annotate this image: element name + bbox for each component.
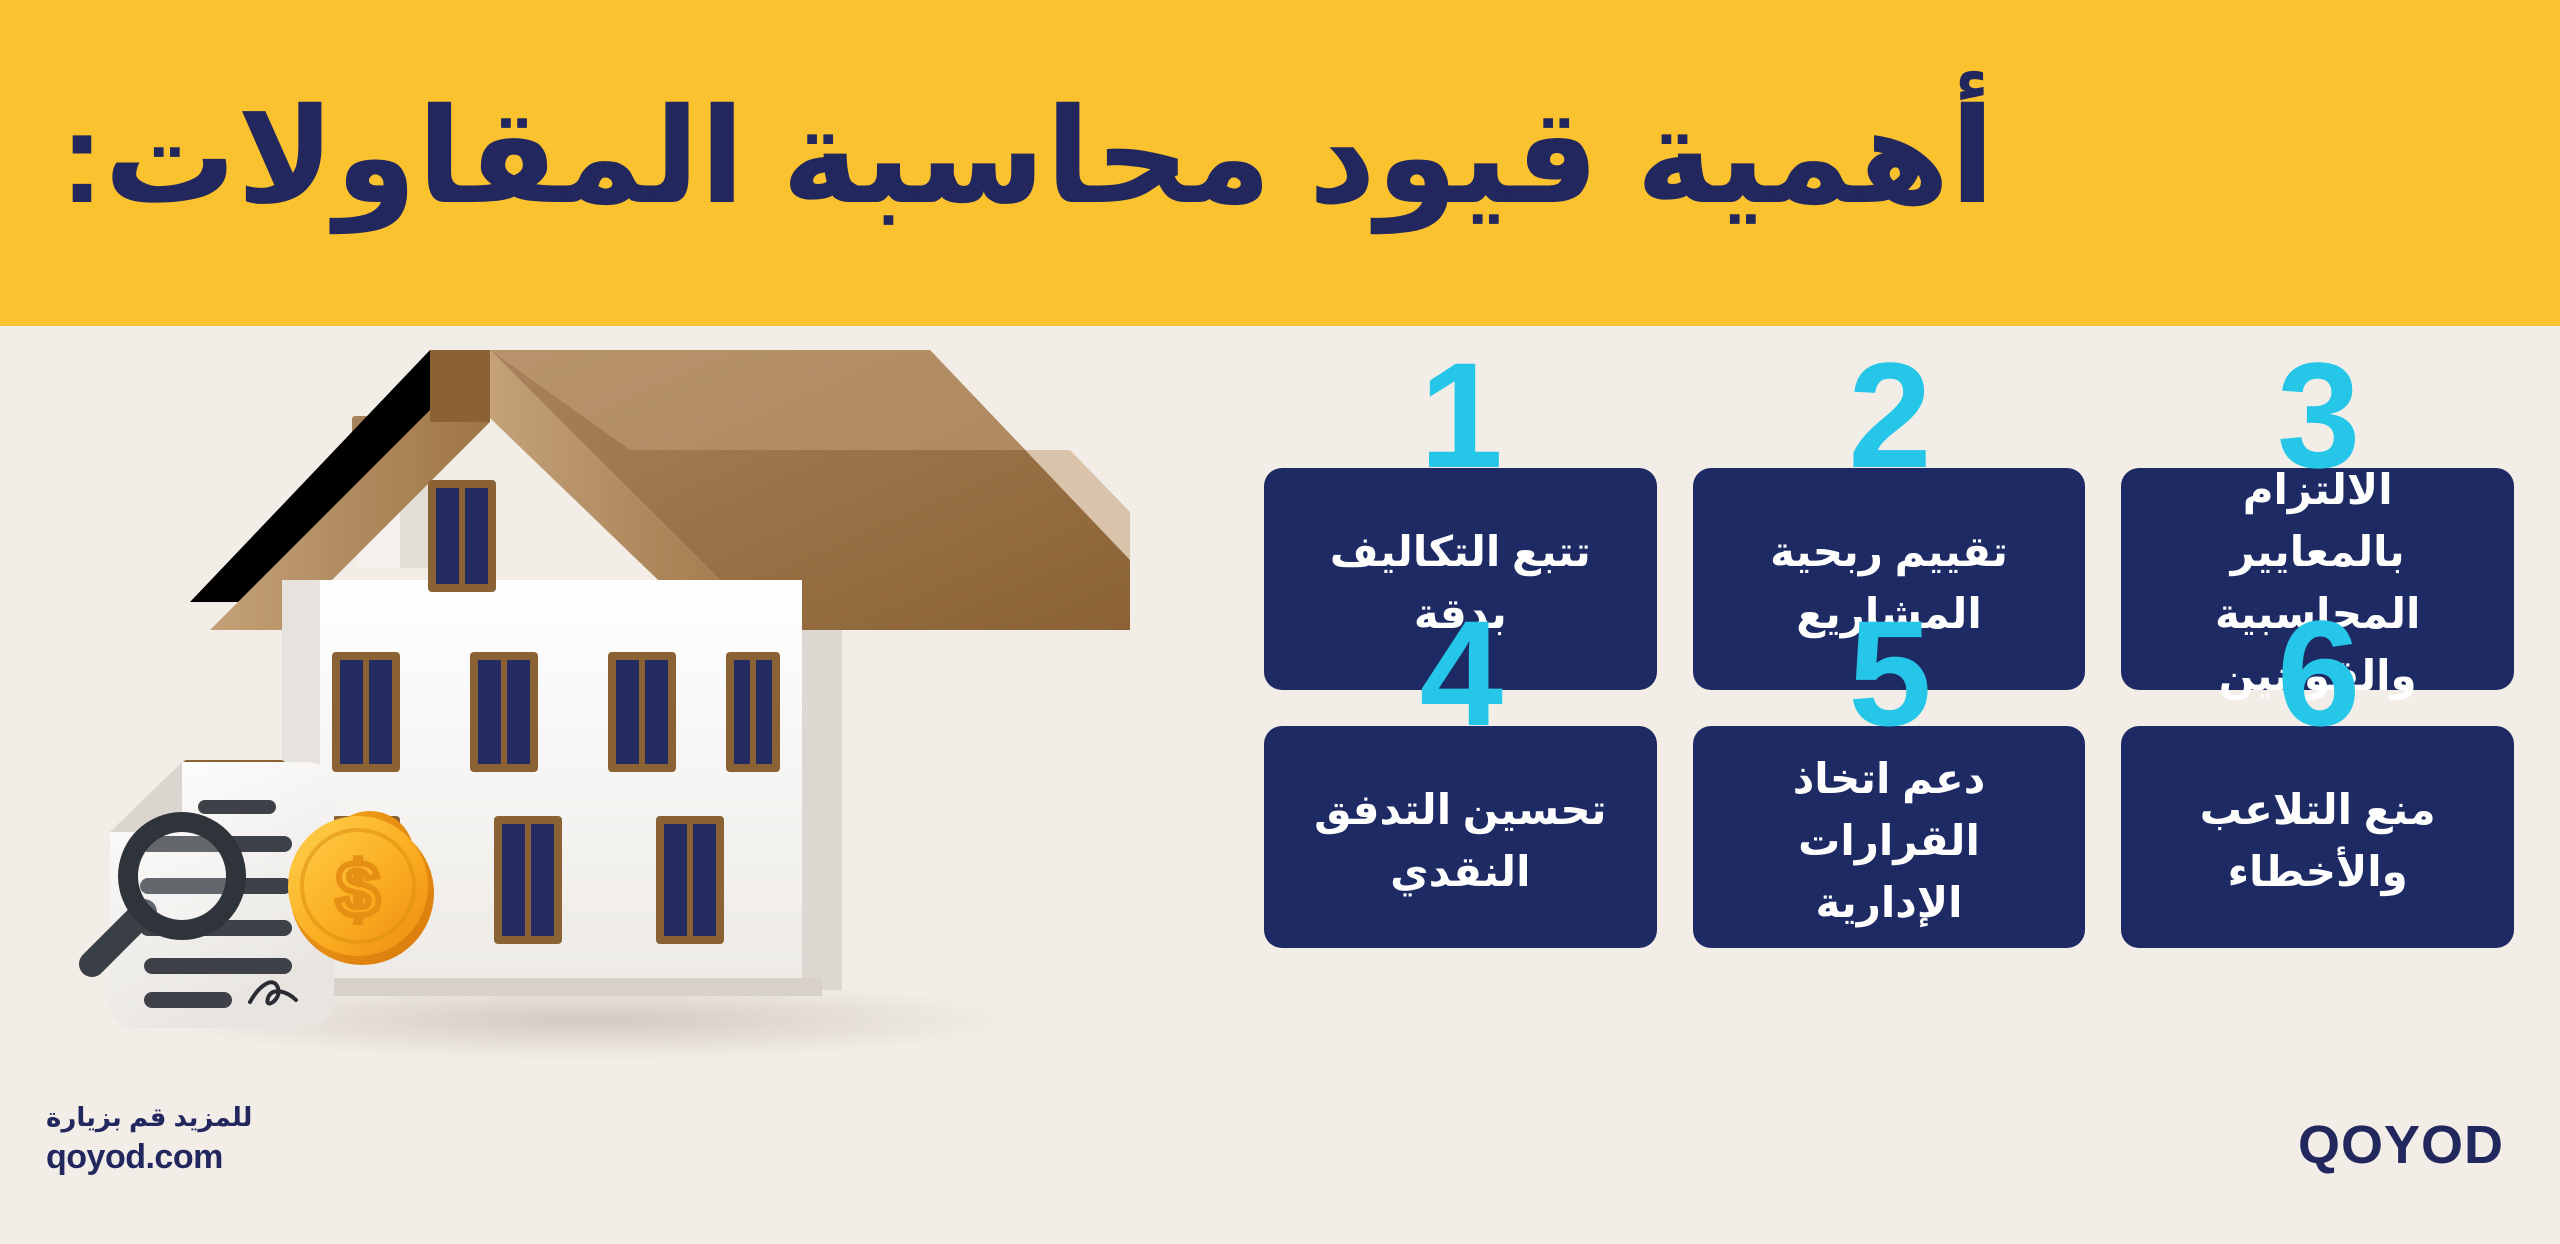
- header-banner: أهمية قيود محاسبة المقاولات:: [0, 0, 2560, 326]
- benefit-card-6[interactable]: 6 منع التلاعب والأخطاء: [2121, 726, 2514, 948]
- house-illustration: $: [70, 330, 1130, 1070]
- benefits-grid: 3 الالتزام بالمعايير المحاسبية والقوانين…: [1264, 468, 2514, 948]
- svg-text:$: $: [336, 845, 379, 933]
- infographic-canvas: أهمية قيود محاسبة المقاولات:: [0, 0, 2560, 1244]
- benefit-card-5[interactable]: 5 دعم اتخاذ القرارات الإدارية: [1693, 726, 2086, 948]
- doc-line: [144, 958, 292, 974]
- benefit-label-2: تقييم ربحية المشاريع: [1723, 521, 2056, 645]
- benefit-label-5: دعم اتخاذ القرارات الإدارية: [1723, 748, 2056, 934]
- benefit-card-3[interactable]: 3 الالتزام بالمعايير المحاسبية والقوانين: [2121, 468, 2514, 690]
- footer-cta: للمزيد قم بزيارة qoyod.com: [46, 1100, 252, 1178]
- benefit-label-6: منع التلاعب والأخطاء: [2151, 779, 2484, 903]
- qoyod-logo: QOYOD: [2298, 1118, 2504, 1172]
- qoyod-logo-text: QOYOD: [2298, 1118, 2504, 1172]
- benefit-card-4[interactable]: 4 تحسين التدفق النقدي: [1264, 726, 1657, 948]
- benefit-number-2: 2: [1693, 340, 2086, 490]
- doc-line: [144, 992, 232, 1008]
- benefit-label-4: تحسين التدفق النقدي: [1294, 779, 1627, 903]
- benefit-card-1[interactable]: 1 تتبع التكاليف بدقة: [1264, 468, 1657, 690]
- page-title: أهمية قيود محاسبة المقاولات:: [60, 90, 1995, 225]
- benefits-row-bottom: 6 منع التلاعب والأخطاء 5 دعم اتخاذ القرا…: [1264, 726, 2514, 948]
- benefit-number-1: 1: [1264, 340, 1657, 490]
- benefit-card-2[interactable]: 2 تقييم ربحية المشاريع: [1693, 468, 2086, 690]
- doc-line: [198, 800, 276, 814]
- benefit-label-1: تتبع التكاليف بدقة: [1294, 521, 1627, 645]
- footer-website-link[interactable]: qoyod.com: [46, 1136, 252, 1179]
- footer-cta-line: للمزيد قم بزيارة: [46, 1100, 252, 1135]
- benefit-label-3: الالتزام بالمعايير المحاسبية والقوانين: [2151, 459, 2484, 708]
- window-gable: [428, 480, 496, 592]
- benefits-row-top: 3 الالتزام بالمعايير المحاسبية والقوانين…: [1264, 468, 2514, 690]
